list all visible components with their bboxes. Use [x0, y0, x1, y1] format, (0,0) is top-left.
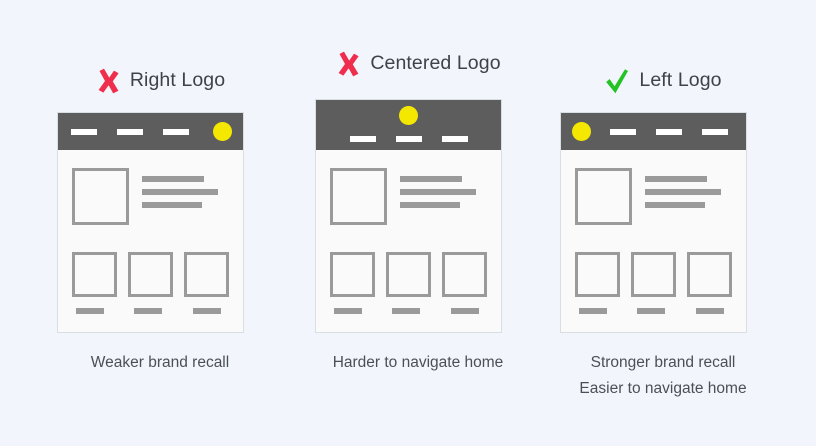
diagram-canvas: Right Logo — [0, 0, 816, 446]
check-icon — [604, 66, 630, 96]
nav-item[interactable] — [610, 129, 636, 135]
card-item — [442, 252, 487, 314]
caption-block: Weaker brand recall — [30, 350, 290, 376]
card-item — [128, 252, 173, 314]
nav-item[interactable] — [163, 129, 189, 135]
text-line — [645, 176, 707, 182]
nav-item[interactable] — [656, 129, 682, 135]
logo-mark[interactable] — [399, 106, 418, 125]
nav-item[interactable] — [396, 136, 422, 142]
hero-text-block — [400, 168, 487, 208]
card-image-placeholder — [386, 252, 431, 297]
card-item — [330, 252, 375, 314]
wireframe-panel — [315, 99, 502, 333]
nav-item[interactable] — [117, 129, 143, 135]
card-item — [72, 252, 117, 314]
text-line — [142, 189, 218, 195]
heading-label: Right Logo — [130, 71, 225, 91]
nav-item[interactable] — [350, 136, 376, 142]
hero-text-block — [142, 168, 229, 208]
hero-section — [330, 168, 487, 225]
text-line — [645, 189, 721, 195]
heading-right-logo: Right Logo — [30, 64, 290, 98]
heading-label: Left Logo — [639, 71, 721, 91]
cross-icon — [95, 66, 121, 96]
site-navbar — [58, 113, 243, 150]
card-image-placeholder — [330, 252, 375, 297]
card-caption-bar — [134, 308, 162, 314]
wireframe-panel — [560, 112, 747, 333]
nav-item[interactable] — [442, 136, 468, 142]
page-body — [561, 150, 746, 314]
caption-line: Easier to navigate home — [533, 376, 793, 402]
text-line — [142, 176, 204, 182]
hero-section — [72, 168, 229, 225]
heading-left-logo: Left Logo — [533, 64, 793, 98]
heading-label: Centered Logo — [370, 54, 500, 74]
card-row — [72, 252, 229, 314]
hero-image-placeholder — [72, 168, 129, 225]
caption-line: Weaker brand recall — [30, 350, 290, 376]
card-image-placeholder — [687, 252, 732, 297]
card-item — [631, 252, 676, 314]
logo-mark[interactable] — [572, 122, 591, 141]
panel-centered-logo: Centered Logo — [288, 0, 548, 446]
hero-image-placeholder — [575, 168, 632, 225]
card-caption-bar — [334, 308, 362, 314]
panel-left-logo: Left Logo — [533, 0, 793, 446]
nav-item[interactable] — [71, 129, 97, 135]
panel-right-logo: Right Logo — [30, 0, 290, 446]
hero-image-placeholder — [330, 168, 387, 225]
card-caption-bar — [193, 308, 221, 314]
cross-icon — [335, 49, 361, 79]
card-item — [386, 252, 431, 314]
hero-text-block — [645, 168, 732, 208]
text-line — [400, 176, 462, 182]
card-image-placeholder — [72, 252, 117, 297]
caption-block: Harder to navigate home — [288, 350, 548, 376]
heading-centered-logo: Centered Logo — [288, 47, 548, 81]
wireframe-panel — [57, 112, 244, 333]
caption-line: Stronger brand recall — [533, 350, 793, 376]
card-item — [575, 252, 620, 314]
text-line — [400, 189, 476, 195]
text-line — [645, 202, 705, 208]
card-row — [575, 252, 732, 314]
card-caption-bar — [392, 308, 420, 314]
card-caption-bar — [696, 308, 724, 314]
card-image-placeholder — [575, 252, 620, 297]
card-caption-bar — [451, 308, 479, 314]
caption-line: Harder to navigate home — [288, 350, 548, 376]
card-image-placeholder — [128, 252, 173, 297]
page-body — [58, 150, 243, 314]
site-navbar — [316, 100, 501, 150]
card-item — [687, 252, 732, 314]
text-line — [142, 202, 202, 208]
text-line — [400, 202, 460, 208]
caption-block: Stronger brand recall Easier to navigate… — [533, 350, 793, 402]
site-navbar — [561, 113, 746, 150]
nav-item-row — [316, 136, 501, 142]
card-image-placeholder — [631, 252, 676, 297]
card-item — [184, 252, 229, 314]
nav-item[interactable] — [702, 129, 728, 135]
card-caption-bar — [76, 308, 104, 314]
page-body — [316, 150, 501, 314]
card-caption-bar — [637, 308, 665, 314]
card-image-placeholder — [184, 252, 229, 297]
card-row — [330, 252, 487, 314]
hero-section — [575, 168, 732, 225]
card-image-placeholder — [442, 252, 487, 297]
card-caption-bar — [579, 308, 607, 314]
logo-mark[interactable] — [213, 122, 232, 141]
